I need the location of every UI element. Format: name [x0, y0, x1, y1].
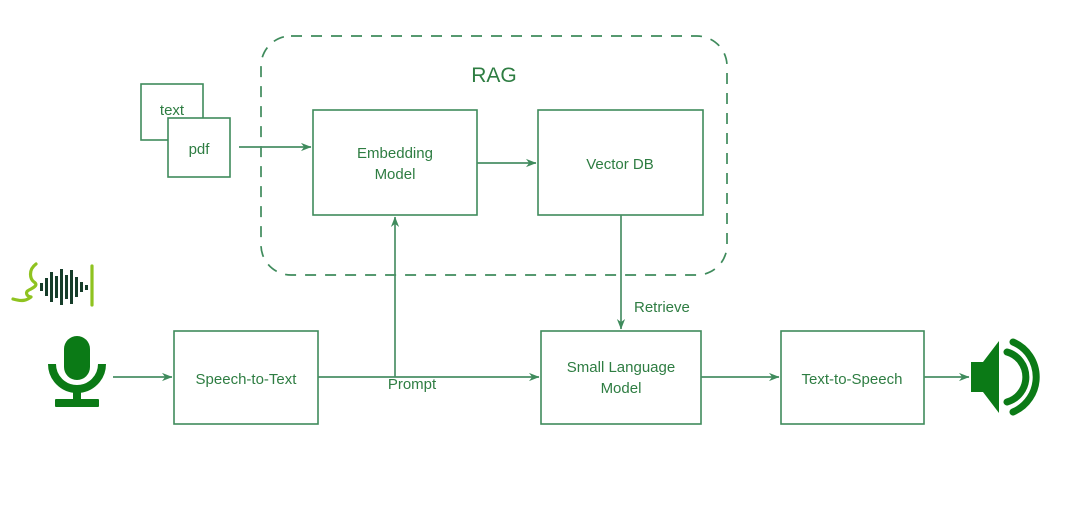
rag-group-label: RAG	[471, 64, 517, 87]
rag-voice-assistant-diagram: RAG text pdf Embedding Model Vector DB R…	[0, 0, 1069, 522]
node-vector-db-label-line1: Vector DB	[586, 156, 654, 173]
node-small-language-model[interactable]	[541, 331, 701, 424]
speaker-icon	[971, 341, 1036, 413]
node-embedding-model-label-line1: Embedding	[357, 145, 433, 162]
edge-label-retrieve: Retrieve	[634, 299, 690, 316]
node-small-language-model-label-line1: Small Language	[567, 359, 675, 376]
edge-label-prompt: Prompt	[388, 376, 437, 393]
node-small-language-model-label-line2: Model	[601, 380, 642, 397]
node-embedding-model-label-line2: Model	[375, 166, 416, 183]
source-doc-pdf-label: pdf	[189, 141, 211, 158]
microphone-icon	[52, 336, 102, 407]
node-embedding-model[interactable]	[313, 110, 477, 215]
node-speech-to-text-label-line1: Speech-to-Text	[196, 371, 298, 388]
node-text-to-speech-label-line1: Text-to-Speech	[802, 371, 903, 388]
source-doc-text-label: text	[160, 102, 185, 119]
speech-waveform-icon	[13, 264, 92, 305]
